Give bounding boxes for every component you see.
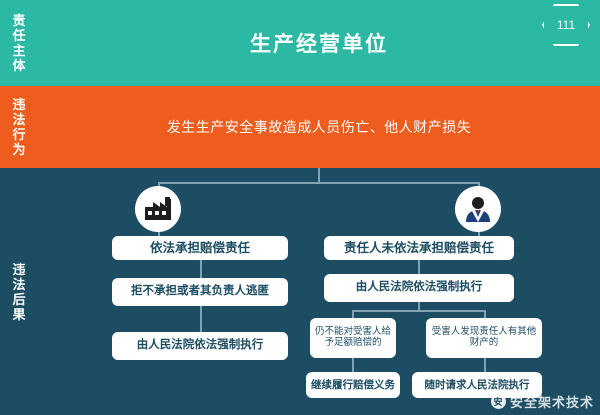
right-branch-box-1: 责任人未依法承担赔偿责任 bbox=[324, 236, 514, 260]
person-icon bbox=[455, 186, 501, 232]
connector-cond1-drop bbox=[352, 310, 354, 318]
connector-horizontal-main bbox=[158, 182, 480, 184]
right-branch-box-2: 由人民法院依法强制执行 bbox=[324, 274, 514, 302]
connector-cond1-to-action bbox=[352, 358, 354, 372]
band-subject-title: 生产经营单位 bbox=[250, 28, 388, 58]
band-illegal-act: 发生生产安全事故造成人员伤亡、他人财产损失 bbox=[38, 86, 600, 168]
right-branch-action-1: 继续履行赔偿义务 bbox=[306, 372, 400, 398]
connector-trunk-vertical bbox=[318, 168, 320, 182]
page-number-text: 111 bbox=[557, 18, 575, 32]
watermark-text: 安全架术技术 bbox=[510, 392, 594, 411]
left-label-subject-text: 责任主体 bbox=[11, 13, 27, 73]
left-branch-box-1: 依法承担赔偿责任 bbox=[112, 236, 288, 260]
connector-right-box2-split bbox=[418, 302, 420, 310]
band-subject: 生产经营单位 bbox=[38, 0, 600, 86]
right-branch-condition-2: 受害人发现责任人有其他财产的 bbox=[426, 318, 542, 358]
band-illegal-act-text: 发生生产安全事故造成人员伤亡、他人财产损失 bbox=[167, 117, 472, 137]
connector-right-split-horizontal bbox=[352, 310, 486, 312]
left-label-subject: 责任主体 bbox=[0, 0, 38, 86]
right-branch-condition-1: 仍不能对受害人给予足额赔偿的 bbox=[310, 318, 396, 358]
left-branch-box-2: 拒不承担或者其负责人逃匿 bbox=[112, 278, 288, 306]
watermark: 安 安全架术技术 bbox=[491, 392, 594, 411]
connector-cond2-drop bbox=[484, 310, 486, 318]
connector-left-box1-box2 bbox=[200, 260, 202, 278]
connector-right-box1-box2 bbox=[418, 260, 420, 274]
connector-cond2-to-action bbox=[484, 358, 486, 372]
factory-icon bbox=[135, 186, 181, 232]
left-label-illegal-act-text: 违法行为 bbox=[11, 97, 27, 157]
left-label-consequence-text: 违法后果 bbox=[11, 262, 27, 322]
connector-left-box2-box3 bbox=[200, 306, 202, 332]
left-label-illegal-act: 违法行为 bbox=[0, 86, 38, 168]
left-branch-box-3: 由人民法院依法强制执行 bbox=[112, 332, 288, 360]
left-label-consequence: 违法后果 bbox=[0, 168, 38, 415]
watermark-badge-icon: 安 bbox=[491, 394, 506, 409]
slide-canvas: 责任主体 违法行为 违法后果 生产经营单位 111 发生生产安全事故造成人员伤亡… bbox=[0, 0, 600, 415]
